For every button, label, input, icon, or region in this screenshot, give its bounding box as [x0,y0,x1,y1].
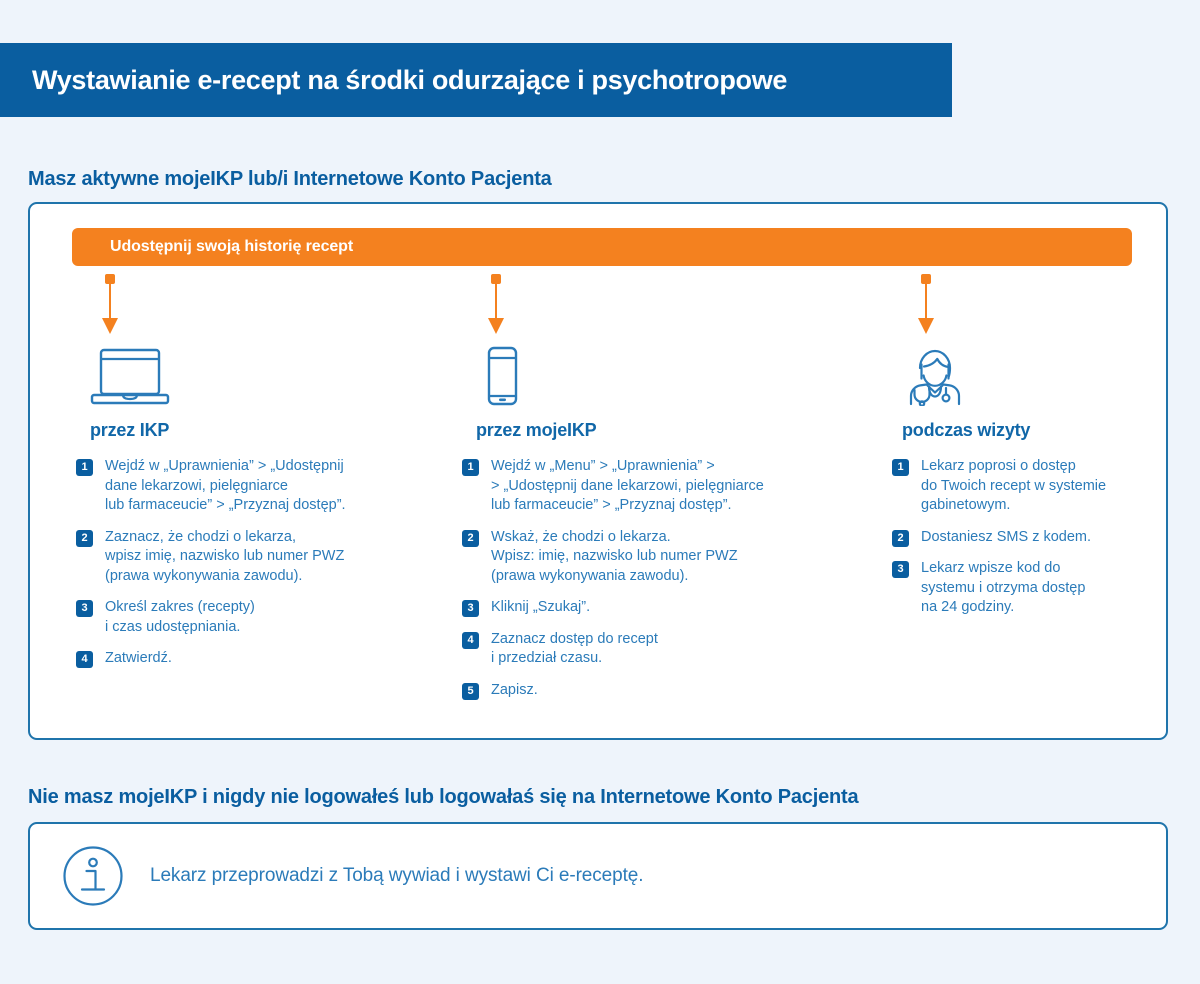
step-number-badge: 3 [462,600,479,617]
step-item: 2 Dostaniesz SMS z kodem. [892,528,1182,548]
info-icon [62,845,124,907]
step-number-badge: 1 [76,459,93,476]
method-column-visit-heading: podczas wizyty [902,420,1182,441]
step-number-badge: 4 [462,632,479,649]
page-title: Wystawianie e-recept na środki odurzając… [0,65,787,96]
step-text: Zatwierdź. [105,649,172,669]
step-text: Zaznacz, że chodzi o lekarza, wpisz imię… [105,528,344,587]
page-title-bar: Wystawianie e-recept na środki odurzając… [0,43,952,117]
step-text: Wejdź w „Menu” > „Uprawnienia” > > „Udos… [491,457,764,516]
step-text: Lekarz poprosi o dostęp do Twoich recept… [921,457,1106,516]
step-text: Dostaniesz SMS z kodem. [921,528,1091,548]
step-number-badge: 1 [892,459,909,476]
step-number-badge: 2 [76,530,93,547]
methods-columns: przez IKP 1 Wejdź w „Uprawnienia” > „Udo… [30,204,1166,738]
step-text: Kliknij „Szukaj”. [491,598,590,618]
method-column-visit-steps: 1 Lekarz poprosi o dostęp do Twoich rece… [892,457,1182,618]
step-number-badge: 2 [462,530,479,547]
step-item: 3 Lekarz wpisze kod do systemu i otrzyma… [892,559,1182,618]
step-text: Zapisz. [491,681,538,701]
step-item: 2 Zaznacz, że chodzi o lekarza, wpisz im… [76,528,426,587]
method-column-mojeikp-steps: 1 Wejdź w „Menu” > „Uprawnienia” > > „Ud… [462,457,822,700]
step-item: 2 Wskaż, że chodzi o lekarza. Wpisz: imi… [462,528,822,587]
step-item: 1 Wejdź w „Menu” > „Uprawnienia” > > „Ud… [462,457,822,516]
step-number-badge: 4 [76,651,93,668]
step-number-badge: 3 [892,561,909,578]
step-text: Lekarz wpisze kod do systemu i otrzyma d… [921,559,1085,618]
step-text: Zaznacz dostęp do recept i przedział cza… [491,630,658,669]
method-column-ikp-steps: 1 Wejdź w „Uprawnienia” > „Udostępnij da… [76,457,426,669]
step-text: Wejdź w „Uprawnienia” > „Udostępnij dane… [105,457,346,516]
step-text: Wskaż, że chodzi o lekarza. Wpisz: imię,… [491,528,738,587]
step-item: 3 Kliknij „Szukaj”. [462,598,822,618]
smartphone-icon [476,344,822,406]
step-number-badge: 1 [462,459,479,476]
section-one-card: Udostępnij swoją historię recept przez I… [28,202,1168,740]
doctor-icon [902,344,1182,406]
step-item: 4 Zatwierdź. [76,649,426,669]
step-item: 5 Zapisz. [462,681,822,701]
method-column-mojeikp-heading: przez mojeIKP [476,420,822,441]
down-arrow-icon [98,274,122,336]
note-text: Lekarz przeprowadzi z Tobą wywiad i wyst… [150,865,643,887]
down-arrow-icon [484,274,508,336]
step-item: 1 Wejdź w „Uprawnienia” > „Udostępnij da… [76,457,426,516]
step-item: 4 Zaznacz dostęp do recept i przedział c… [462,630,822,669]
step-item: 1 Lekarz poprosi o dostęp do Twoich rece… [892,457,1182,516]
step-number-badge: 5 [462,683,479,700]
down-arrow-icon [914,274,938,336]
method-column-mojeikp: przez mojeIKP 1 Wejdź w „Menu” > „Uprawn… [462,274,822,716]
section-two-card: Lekarz przeprowadzi z Tobą wywiad i wyst… [28,822,1168,930]
laptop-icon [90,344,426,406]
section-two-heading: Nie masz mojeIKP i nigdy nie logowałeś l… [28,786,858,809]
method-column-ikp: przez IKP 1 Wejdź w „Uprawnienia” > „Udo… [76,274,426,685]
method-column-ikp-heading: przez IKP [90,420,426,441]
step-text: Określ zakres (recepty) i czas udostępni… [105,598,255,637]
step-number-badge: 3 [76,600,93,617]
section-one-heading: Masz aktywne mojeIKP lub/i Internetowe K… [28,168,552,191]
method-column-visit: podczas wizyty 1 Lekarz poprosi o dostęp… [892,274,1182,634]
step-item: 3 Określ zakres (recepty) i czas udostęp… [76,598,426,637]
step-number-badge: 2 [892,530,909,547]
